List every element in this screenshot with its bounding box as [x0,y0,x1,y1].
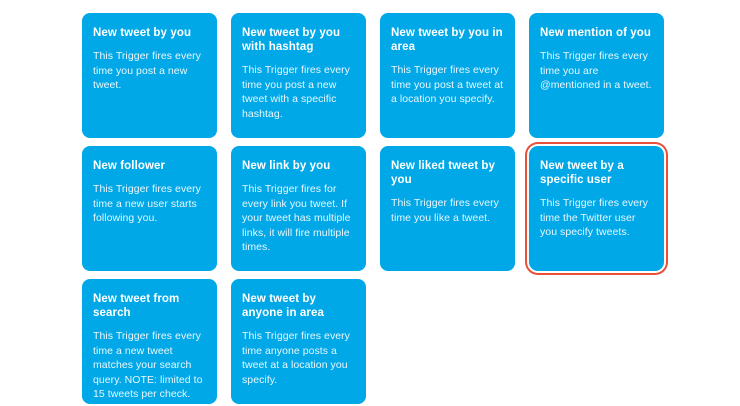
trigger-card[interactable]: New tweet by you with hashtag This Trigg… [231,13,366,138]
trigger-card[interactable]: New tweet by anyone in area This Trigger… [231,279,366,404]
trigger-card[interactable]: New liked tweet by you This Trigger fire… [380,146,515,271]
trigger-card-title: New mention of you [540,26,653,40]
trigger-card-title: New tweet by you [93,26,206,40]
trigger-card[interactable]: New tweet from search This Trigger fires… [82,279,217,404]
trigger-card-title: New tweet by anyone in area [242,292,355,320]
trigger-card-title: New tweet from search [93,292,206,320]
trigger-card-description: This Trigger fires every time you post a… [391,63,504,107]
trigger-card-description: This Trigger fires every time you are @m… [540,49,653,93]
trigger-card-description: This Trigger fires for every link you tw… [242,182,355,255]
trigger-card[interactable]: New link by you This Trigger fires for e… [231,146,366,271]
trigger-gallery: New tweet by you This Trigger fires ever… [0,0,740,406]
trigger-card-grid: New tweet by you This Trigger fires ever… [82,13,671,404]
trigger-card-title: New link by you [242,159,355,173]
trigger-card-title: New tweet by you in area [391,26,504,54]
trigger-card[interactable]: New mention of you This Trigger fires ev… [529,13,664,138]
trigger-card[interactable]: New tweet by you This Trigger fires ever… [82,13,217,138]
trigger-card-description: This Trigger fires every time a new twee… [93,329,206,402]
trigger-card-title: New tweet by a specific user [540,159,653,187]
trigger-card-description: This Trigger fires every time the Twitte… [540,196,653,240]
trigger-card[interactable]: New tweet by you in area This Trigger fi… [380,13,515,138]
trigger-card-selected[interactable]: New tweet by a specific user This Trigge… [529,146,664,271]
trigger-card-description: This Trigger fires every time you like a… [391,196,504,225]
trigger-card-title: New liked tweet by you [391,159,504,187]
trigger-card-description: This Trigger fires every time a new user… [93,182,206,226]
trigger-card-description: This Trigger fires every time you post a… [242,63,355,121]
trigger-card-title: New tweet by you with hashtag [242,26,355,54]
trigger-card-description: This Trigger fires every time you post a… [93,49,206,93]
trigger-card-title: New follower [93,159,206,173]
trigger-card-description: This Trigger fires every time anyone pos… [242,329,355,387]
trigger-card[interactable]: New follower This Trigger fires every ti… [82,146,217,271]
